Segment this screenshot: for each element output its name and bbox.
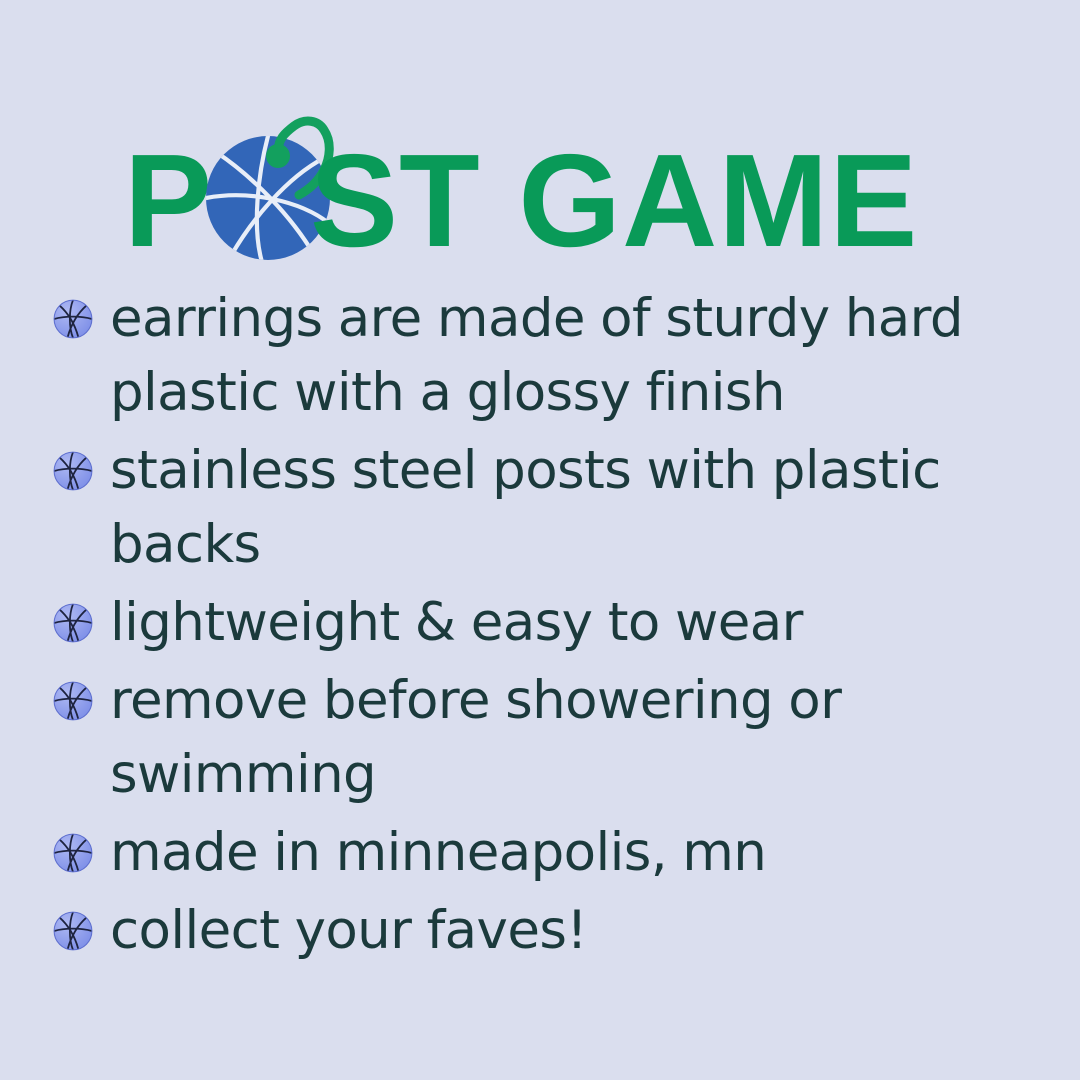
list-item-label: collect your faves! — [110, 894, 990, 968]
basketball-bullet-icon — [48, 434, 98, 490]
list-item-label: remove before showering or swimming — [110, 664, 990, 812]
basketball-bullet-icon — [48, 664, 98, 720]
list-item-label: earrings are made of sturdy hard plastic… — [110, 282, 990, 430]
basketball-bullet-icon — [48, 894, 98, 950]
list-item-label: lightweight & easy to wear — [110, 586, 990, 660]
list-item: remove before showering or swimming — [48, 664, 1008, 812]
list-item: lightweight & easy to wear — [48, 586, 1008, 660]
list-item: earrings are made of sturdy hard plastic… — [48, 282, 1008, 430]
feature-list: earrings are made of sturdy hard plastic… — [48, 282, 1008, 972]
basketball-bullet-icon — [48, 586, 98, 642]
list-item: stainless steel posts with plastic backs — [48, 434, 1008, 582]
list-item: made in minneapolis, mn — [48, 816, 1008, 890]
brand-logo-svg: P ST GAME — [0, 78, 1080, 268]
title-rest: ST GAME — [310, 127, 918, 268]
title-letter-p: P — [124, 127, 213, 268]
earring-bead — [266, 144, 290, 168]
basketball-bullet-icon — [48, 282, 98, 338]
list-item: collect your faves! — [48, 894, 1008, 968]
list-item-label: made in minneapolis, mn — [110, 816, 990, 890]
brand-logo: P ST GAME — [0, 78, 1080, 268]
list-item-label: stainless steel posts with plastic backs — [110, 434, 990, 582]
info-card: P ST GAME — [0, 0, 1080, 1080]
basketball-bullet-icon — [48, 816, 98, 872]
